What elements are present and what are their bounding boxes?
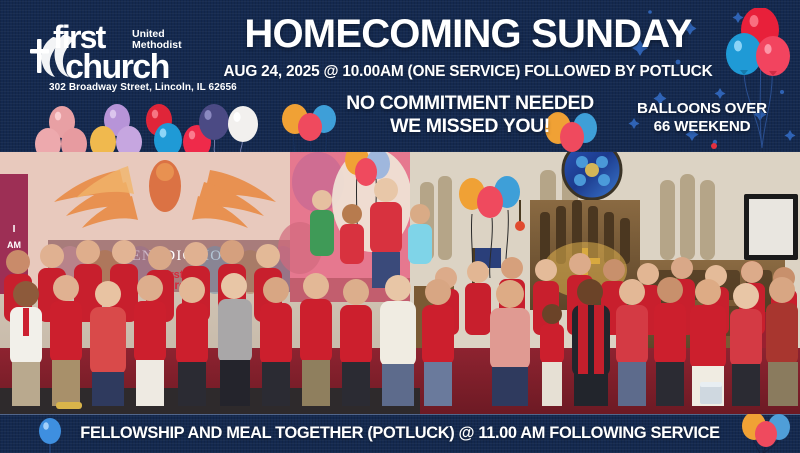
wall-banner-text: I bbox=[13, 224, 16, 235]
balloon-pair-purple-white-icon bbox=[192, 104, 270, 152]
commitment-line-2: WE MISSED YOU! bbox=[325, 115, 615, 138]
balloons66-line-1: BALLOONS OVER bbox=[616, 100, 788, 118]
balloons-over-66-note: BALLOONS OVER 66 WEEKEND bbox=[616, 100, 788, 136]
congregation-photo: *BENEDICTION first church I AM HE bbox=[0, 152, 800, 414]
svg-text:church: church bbox=[65, 48, 169, 86]
poster-footer: FELLOWSHIP AND MEAL TOGETHER (POTLUCK) @… bbox=[0, 414, 800, 453]
logo-wordmark: first church United Methodist bbox=[27, 16, 203, 86]
footer-message: FELLOWSHIP AND MEAL TOGETHER (POTLUCK) @… bbox=[0, 414, 800, 453]
svg-text:Methodist: Methodist bbox=[132, 39, 182, 51]
homecoming-sunday-poster: first church United Methodist 302 Broadw… bbox=[0, 0, 800, 453]
balloons66-line-2: 66 WEEKEND bbox=[616, 118, 788, 136]
balloon-pair-blue-red-icon bbox=[150, 118, 225, 152]
poster-header: first church United Methodist 302 Broadw… bbox=[0, 0, 800, 152]
balloon-cluster-pink-purple-icon bbox=[32, 96, 177, 152]
commitment-message: NO COMMITMENT NEEDED WE MISSED YOU! bbox=[325, 92, 615, 137]
photo-illustration: *BENEDICTION first church I AM HE bbox=[0, 152, 800, 414]
poster-title: HOMECOMING SUNDAY bbox=[212, 14, 724, 55]
commitment-line-1: NO COMMITMENT NEEDED bbox=[325, 92, 615, 115]
headline-block: HOMECOMING SUNDAY AUG 24, 2025 @ 10.00AM… bbox=[212, 14, 724, 81]
poster-subtitle: AUG 24, 2025 @ 10.00AM (ONE SERVICE) FOL… bbox=[212, 63, 724, 81]
logo-address: 302 Broadway Street, Lincoln, IL 62656 bbox=[49, 82, 237, 93]
church-logo: first church United Methodist 302 Broadw… bbox=[27, 16, 203, 100]
svg-text:AM: AM bbox=[7, 240, 21, 250]
